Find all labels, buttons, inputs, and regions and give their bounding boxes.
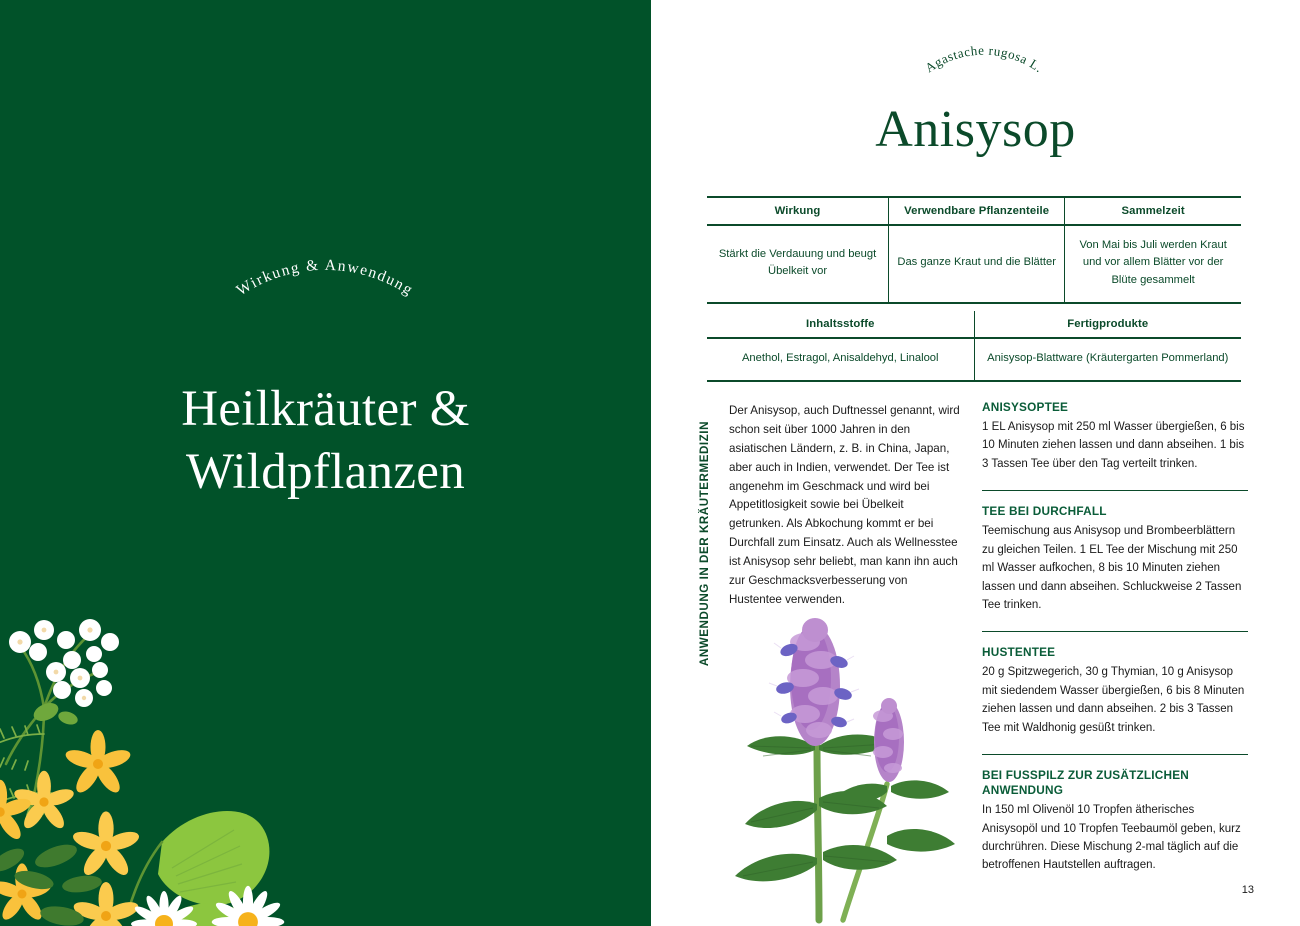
left-page: Wirkung & Anwendung Heilkräuter & Wildpf… (0, 0, 651, 926)
plant-title: Anisysop (651, 100, 1300, 159)
recipe-text: Teemischung aus Anisysop und Brombeerblä… (982, 522, 1248, 614)
right-page: Agastache rugosa L. Anisysop Wirkung Ver… (651, 0, 1300, 926)
table-header-pflanzenteile: Verwendbare Pflanzenteile (889, 197, 1065, 225)
svg-text:Wirkung & Anwendung: Wirkung & Anwendung (234, 257, 417, 300)
recipe-list: ANISYSOPTEE 1 EL Anisysop mit 250 ml Was… (982, 400, 1248, 885)
recipe-item: ANISYSOPTEE 1 EL Anisysop mit 250 ml Was… (982, 400, 1248, 483)
table-cell-sammelzeit: Von Mai bis Juli werden Kraut und vor al… (1065, 225, 1241, 303)
plant-info-table: Wirkung Verwendbare Pflanzenteile Sammel… (707, 196, 1241, 382)
chapter-title-line-1: Heilkräuter & (0, 378, 651, 441)
recipe-title: BEI FUSSPILZ ZUR ZUSÄTZLICHEN ANWENDUNG (982, 768, 1248, 798)
table-cell-pflanzenteile: Das ganze Kraut und die Blätter (889, 225, 1065, 303)
recipe-item: HUSTENTEE 20 g Spitzwegerich, 30 g Thymi… (982, 631, 1248, 747)
recipe-title: TEE BEI DURCHFALL (982, 504, 1248, 519)
recipe-text: 1 EL Anisysop mit 250 ml Wasser übergieß… (982, 418, 1248, 473)
svg-text:Agastache rugosa L.: Agastache rugosa L. (922, 43, 1046, 76)
recipe-item: TEE BEI DURCHFALL Teemischung aus Anisys… (982, 490, 1248, 624)
page-number: 13 (1242, 884, 1254, 896)
book-spread: Wirkung & Anwendung Heilkräuter & Wildpf… (0, 0, 1300, 926)
recipe-text: In 150 ml Olivenöl 10 Tropfen ätherische… (982, 801, 1248, 875)
table-header-wirkung: Wirkung (707, 197, 889, 225)
chapter-arc-text: Wirkung & Anwendung (234, 257, 417, 300)
table-header-inhaltsstoffe: Inhaltsstoffe (707, 311, 974, 338)
latin-name-text: Agastache rugosa L. (922, 43, 1046, 76)
table-body-row-1: Stärkt die Verdauung und beugt Übelkeit … (707, 225, 1241, 303)
table-header-fertigprodukte: Fertigprodukte (974, 311, 1241, 338)
recipe-item: BEI FUSSPILZ ZUR ZUSÄTZLICHEN ANWENDUNG … (982, 754, 1248, 885)
recipe-text: 20 g Spitzwegerich, 30 g Thymian, 10 g A… (982, 663, 1248, 737)
table-cell-wirkung: Stärkt die Verdauung und beugt Übelkeit … (707, 225, 889, 303)
recipe-title: HUSTENTEE (982, 645, 1248, 660)
table-header-row-2: Inhaltsstoffe Fertigprodukte (707, 311, 1241, 338)
anise-hyssop-illustration (711, 590, 1001, 926)
table-header-row-1: Wirkung Verwendbare Pflanzenteile Sammel… (707, 197, 1241, 225)
table-cell-inhaltsstoffe: Anethol, Estragol, Anisaldehyd, Linalool (707, 338, 974, 381)
recipe-title: ANISYSOPTEE (982, 400, 1248, 415)
table-body-row-2: Anethol, Estragol, Anisaldehyd, Linalool… (707, 338, 1241, 381)
chapter-title: Heilkräuter & Wildpflanzen (0, 378, 651, 504)
intro-paragraph: Der Anisysop, auch Duftnessel genannt, w… (729, 402, 961, 610)
chapter-title-line-2: Wildpflanzen (0, 441, 651, 504)
herb-bouquet-illustration (0, 512, 346, 926)
table-header-sammelzeit: Sammelzeit (1065, 197, 1241, 225)
table-cell-fertigprodukte: Anisysop-Blattware (Kräutergarten Pommer… (974, 338, 1241, 381)
section-vertical-label-text: ANWENDUNG IN DER KRÄUTERMEDIZIN (698, 421, 711, 666)
